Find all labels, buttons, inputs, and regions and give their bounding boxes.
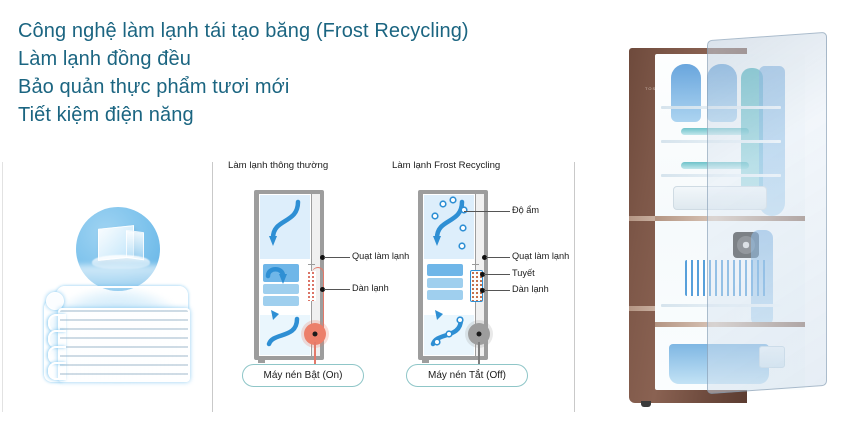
label-cooling-fan: Quạt làm lạnh	[512, 251, 569, 261]
schematic-normal-cooling: Làm lạnh thông thường	[228, 160, 403, 410]
schematic-frost-recycling: Làm lạnh Frost Recycling	[392, 160, 567, 410]
refrigerant-pipe	[312, 267, 324, 331]
callout-line-humidity	[464, 211, 510, 212]
callout-line-fan	[486, 257, 510, 258]
divider-middle	[212, 162, 213, 412]
headline-line-4: Tiết kiệm điện năng	[18, 101, 578, 129]
cooling-fan-blade	[472, 264, 479, 265]
schematic-title-frost: Làm lạnh Frost Recycling	[392, 160, 500, 171]
label-cooling-coil: Dàn lạnh	[352, 283, 389, 293]
headline-block: Công nghệ làm lạnh tái tạo băng (Frost R…	[18, 17, 578, 129]
fridge-foot	[641, 401, 651, 407]
coil-tube-top	[56, 286, 188, 310]
evaporator-panel	[10, 152, 208, 412]
headline-line-2: Làm lạnh đồng đều	[18, 45, 578, 73]
fridge-outline-normal	[254, 190, 324, 360]
compressor-dot	[477, 332, 482, 337]
headline-line-3: Bảo quản thực phẩm tươi mới	[18, 73, 578, 101]
compressor-status-pill-off: Máy nén Tắt (Off)	[406, 364, 528, 387]
ice-cube-closeup-icon	[76, 207, 160, 291]
coil-bend	[48, 362, 66, 380]
evaporator-coil-illustration	[40, 280, 195, 388]
promo-page: Công nghệ làm lạnh tái tạo băng (Frost R…	[0, 0, 855, 438]
label-humidity: Độ ẩm	[512, 205, 539, 215]
compressor-dot	[313, 332, 318, 337]
coil-fin-stack	[58, 308, 190, 382]
refrigerator-cutaway-photo: TOSHIBA	[595, 28, 845, 428]
callout-line-coil	[324, 289, 350, 290]
divider-left	[2, 162, 3, 412]
callout-line-coil	[484, 290, 510, 291]
label-cooling-coil: Dàn lạnh	[512, 284, 549, 294]
cooling-fan-blade	[308, 264, 315, 265]
label-frost: Tuyết	[512, 268, 535, 278]
fridge-foot	[258, 358, 265, 363]
callout-line-fan	[324, 257, 350, 258]
callout-line-frost	[484, 274, 510, 275]
airflow-stream	[671, 64, 701, 122]
fridge-foot	[422, 358, 429, 363]
fridge-outline-frost	[418, 190, 488, 360]
compressor-status-pill-on: Máy nén Bật (On)	[242, 364, 364, 387]
divider-right	[574, 162, 575, 412]
glass-cutaway-overlay	[707, 32, 827, 394]
headline-line-1: Công nghệ làm lạnh tái tạo băng (Frost R…	[18, 17, 578, 45]
schematic-title-normal: Làm lạnh thông thường	[228, 160, 328, 171]
